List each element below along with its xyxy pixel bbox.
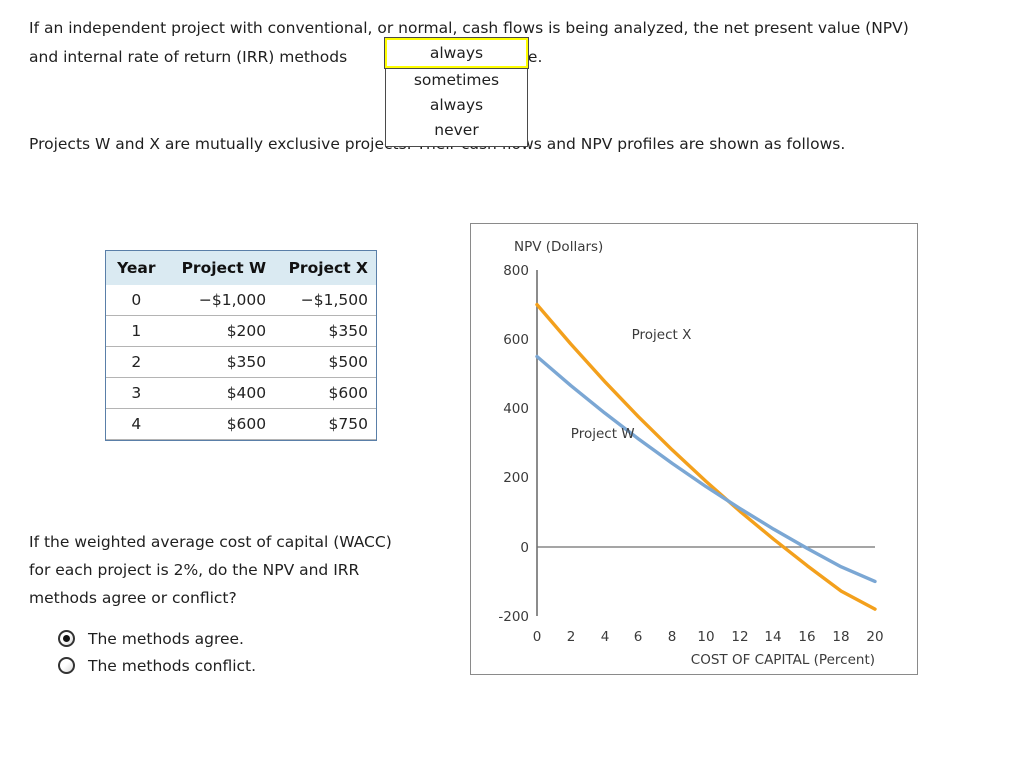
- cell-project-x: $350: [274, 316, 376, 347]
- x-tick-2: 2: [567, 629, 576, 645]
- table-header-project-w: Project W: [167, 251, 275, 285]
- x-tick-14: 14: [764, 629, 781, 645]
- cell-project-x: $600: [274, 378, 376, 409]
- select-option-never[interactable]: never: [386, 117, 527, 142]
- cash-flow-table: Year Project W Project X 0 −$1,000 −$1,5…: [105, 250, 377, 441]
- table-row: 3 $400 $600: [106, 378, 376, 409]
- select-selected-value[interactable]: always: [385, 38, 528, 68]
- chart-y-tick-labels: 800 600 400 200 0 -200: [498, 263, 529, 625]
- select-option-sometimes[interactable]: sometimes: [386, 67, 527, 92]
- x-tick-6: 6: [634, 629, 643, 645]
- x-tick-12: 12: [731, 629, 748, 645]
- y-tick-neg200: -200: [498, 609, 529, 625]
- radio-button-icon[interactable]: [58, 657, 75, 674]
- wacc-question-paragraph: If the weighted average cost of capital …: [29, 528, 459, 612]
- chart-y-axis-label: NPV (Dollars): [514, 239, 603, 255]
- chart-line-project-x: [537, 305, 875, 609]
- y-tick-800: 800: [503, 263, 529, 279]
- chart-annotation-project-w: Project W: [571, 426, 635, 442]
- question-intro-line2-before: and internal rate of return (IRR) method…: [29, 48, 347, 66]
- wacc-question-line1: If the weighted average cost of capital …: [29, 528, 459, 556]
- choice-label[interactable]: The methods agree.: [88, 630, 244, 648]
- y-tick-600: 600: [503, 332, 529, 348]
- select-options-list[interactable]: sometimes always never: [385, 67, 528, 147]
- table-header-year: Year: [106, 251, 167, 285]
- wacc-question-line2: for each project is 2%, do the NPV and I…: [29, 556, 459, 584]
- chart-annotation-project-x: Project X: [632, 327, 692, 343]
- always-sometimes-never-select[interactable]: always sometimes always never: [385, 38, 528, 147]
- table-header-project-x: Project X: [274, 251, 376, 285]
- cell-project-w: $400: [167, 378, 275, 409]
- choice-methods-agree[interactable]: The methods agree.: [58, 625, 458, 652]
- cell-year: 4: [106, 409, 167, 440]
- y-tick-0: 0: [520, 540, 529, 556]
- y-tick-200: 200: [503, 470, 529, 486]
- chart-line-project-w: [537, 357, 875, 582]
- select-option-always[interactable]: always: [386, 92, 527, 117]
- x-tick-4: 4: [601, 629, 610, 645]
- choice-label[interactable]: The methods conflict.: [88, 657, 256, 675]
- table-row: 2 $350 $500: [106, 347, 376, 378]
- cell-project-x: $750: [274, 409, 376, 440]
- cell-year: 0: [106, 285, 167, 316]
- wacc-question-line3: methods agree or conflict?: [29, 584, 459, 612]
- radio-button-icon[interactable]: [58, 630, 75, 647]
- chart-x-tick-labels: 0 2 4 6 8 10 12 14 16 18 20: [533, 629, 884, 645]
- x-tick-16: 16: [798, 629, 815, 645]
- cell-project-w: $600: [167, 409, 275, 440]
- cell-year: 1: [106, 316, 167, 347]
- table-header-row: Year Project W Project X: [106, 251, 376, 285]
- cell-year: 2: [106, 347, 167, 378]
- chart-x-axis-label: COST OF CAPITAL (Percent): [691, 652, 875, 668]
- npv-profile-chart: NPV (Dollars) 800 600 400 200 0 -200 0 2…: [470, 223, 918, 675]
- y-tick-400: 400: [503, 401, 529, 417]
- cell-project-x: −$1,500: [274, 285, 376, 316]
- cell-project-w: $350: [167, 347, 275, 378]
- x-tick-20: 20: [866, 629, 883, 645]
- table-row: 1 $200 $350: [106, 316, 376, 347]
- x-tick-8: 8: [668, 629, 677, 645]
- x-tick-10: 10: [697, 629, 714, 645]
- cell-project-w: $200: [167, 316, 275, 347]
- cell-year: 3: [106, 378, 167, 409]
- table-row: 4 $600 $750: [106, 409, 376, 440]
- table-row: 0 −$1,000 −$1,500: [106, 285, 376, 316]
- x-tick-0: 0: [533, 629, 542, 645]
- choice-methods-conflict[interactable]: The methods conflict.: [58, 652, 458, 679]
- x-tick-18: 18: [832, 629, 849, 645]
- question-intro-line1: If an independent project with conventio…: [29, 19, 909, 37]
- cell-project-w: −$1,000: [167, 285, 275, 316]
- answer-choices: The methods agree. The methods conflict.: [58, 625, 458, 679]
- npv-profile-chart-svg: NPV (Dollars) 800 600 400 200 0 -200 0 2…: [471, 224, 917, 674]
- cell-project-x: $500: [274, 347, 376, 378]
